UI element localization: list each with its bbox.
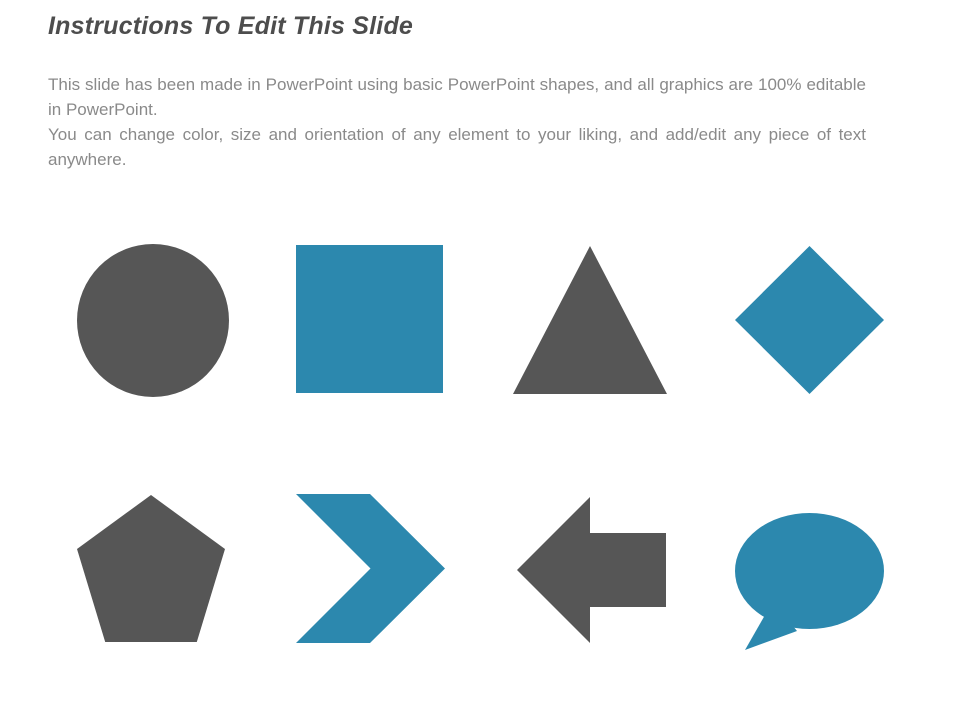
arrow-left-icon bbox=[517, 497, 666, 643]
chevron-right-icon bbox=[296, 494, 445, 643]
shape-triangle[interactable] bbox=[513, 246, 667, 394]
shape-arrow-left[interactable] bbox=[517, 497, 666, 643]
square-icon bbox=[296, 245, 443, 393]
slide-canvas: Instructions To Edit This Slide This sli… bbox=[0, 0, 960, 720]
speech-bubble-icon bbox=[735, 513, 884, 650]
shape-chevron-right[interactable] bbox=[296, 494, 445, 643]
shape-speech-bubble[interactable] bbox=[735, 513, 884, 650]
shape-square[interactable] bbox=[296, 245, 443, 393]
diamond-icon bbox=[735, 246, 884, 394]
shape-circle[interactable] bbox=[77, 244, 229, 397]
shape-pentagon[interactable] bbox=[77, 495, 225, 642]
shape-gallery bbox=[0, 0, 960, 720]
shape-diamond[interactable] bbox=[735, 246, 884, 394]
pentagon-icon bbox=[77, 495, 225, 642]
circle-icon bbox=[77, 244, 229, 397]
triangle-icon bbox=[513, 246, 667, 394]
